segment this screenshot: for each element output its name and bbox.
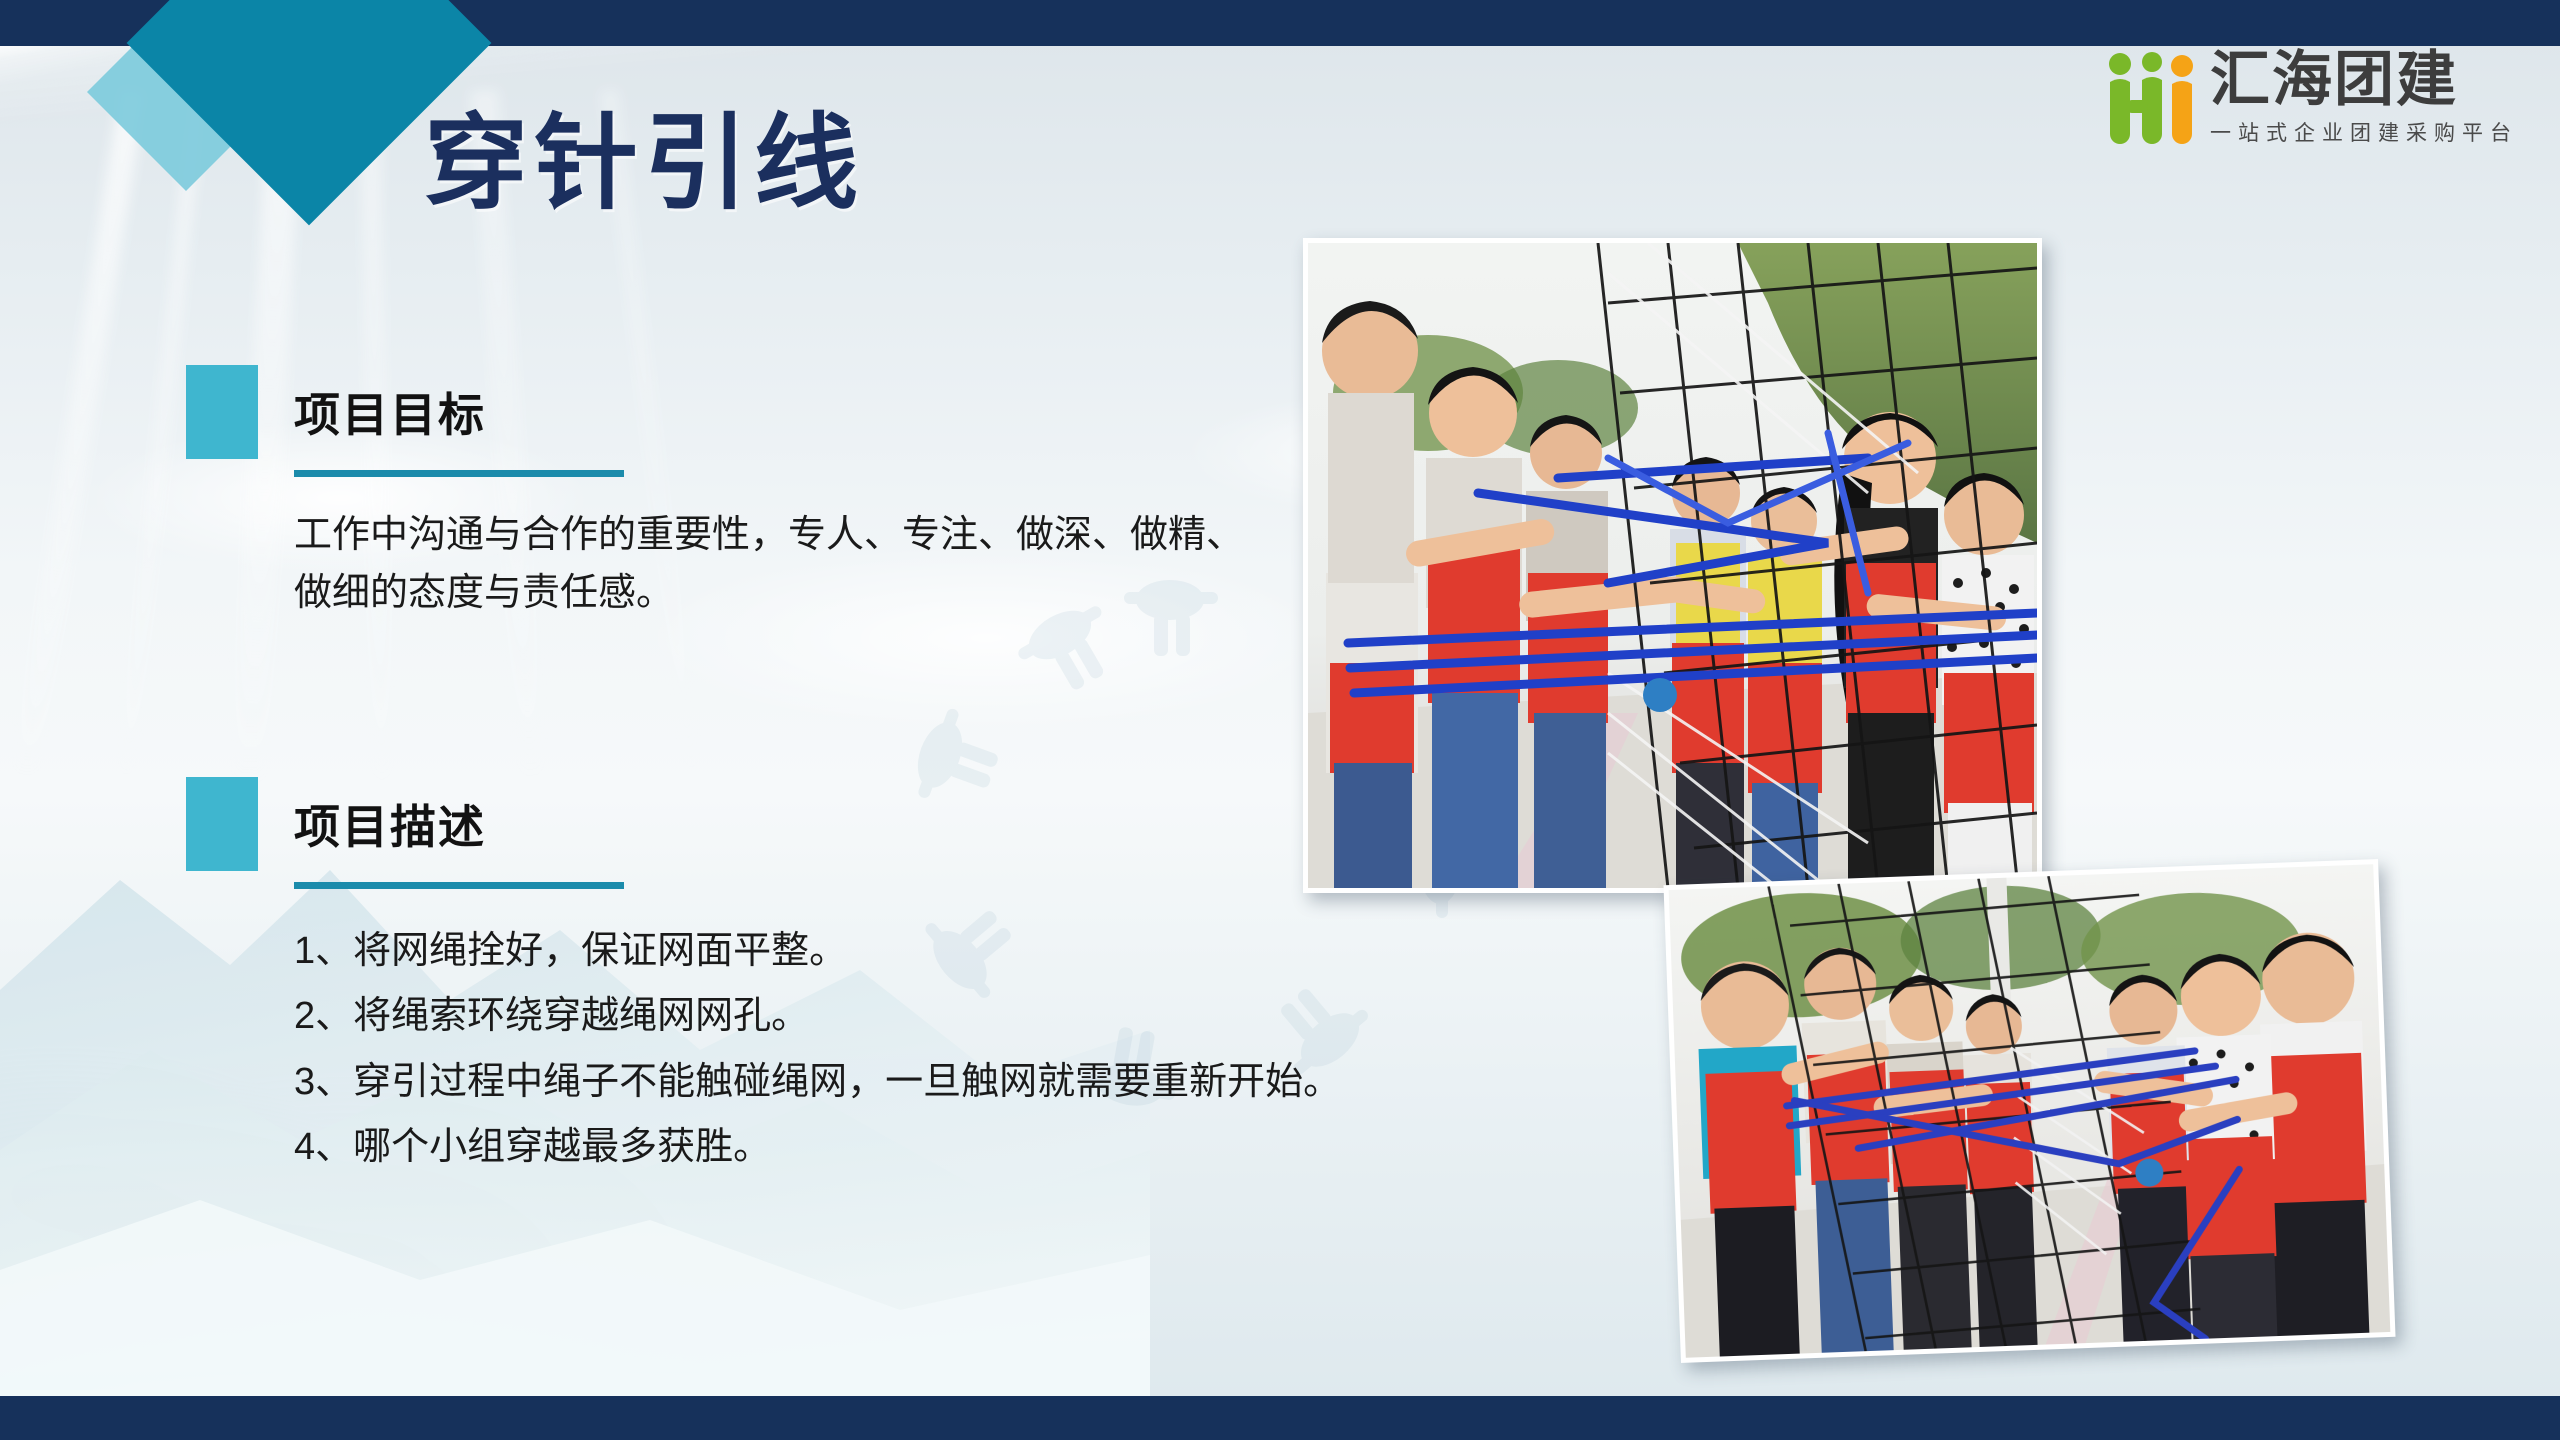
section-description-accent-square — [186, 777, 258, 871]
section-goal-header: 项目目标 — [186, 358, 1244, 466]
bottom-bar — [0, 1396, 2560, 1440]
section-description-body: 1、将网绳拴好，保证网面平整。 2、将绳索环绕穿越绳网网孔。 3、穿引过程中绳子… — [294, 919, 1341, 1180]
logo-tagline: 一站式企业团建采购平台 — [2210, 117, 2518, 147]
page-title: 穿针引线 — [424, 78, 864, 229]
section-goal-line: 工作中沟通与合作的重要性，专人、专注、做深、做精、 — [294, 507, 1244, 565]
section-goal-underline — [294, 470, 624, 477]
photo-team-rope-net-bottom — [1663, 859, 2395, 1363]
list-item: 4、哪个小组穿越最多获胜。 — [294, 1115, 1341, 1180]
section-description-underline — [294, 882, 624, 889]
section-project-goal: 项目目标 工作中沟通与合作的重要性，专人、专注、做深、做精、 做细的态度与责任感… — [186, 358, 1244, 623]
slide-root: 穿针引线 汇海团建 一站式企业团建采购平台 项目目标 工作中沟通与合作 — [0, 0, 2560, 1440]
section-description-header: 项目描述 — [186, 770, 1341, 878]
hi-logo-mark-icon — [2102, 48, 2198, 144]
list-item: 2、将绳索环绕穿越绳网网孔。 — [294, 984, 1341, 1049]
section-goal-body: 工作中沟通与合作的重要性，专人、专注、做深、做精、 做细的态度与责任感。 — [294, 507, 1244, 623]
section-goal-line: 做细的态度与责任感。 — [294, 565, 1244, 623]
list-item: 1、将网绳拴好，保证网面平整。 — [294, 919, 1341, 984]
photo-team-rope-net-top — [1303, 238, 2042, 893]
section-goal-title: 项目目标 — [294, 379, 486, 445]
brand-logo: 汇海团建 一站式企业团建采购平台 — [2102, 48, 2518, 147]
logo-text-block: 汇海团建 一站式企业团建采购平台 — [2210, 48, 2518, 147]
section-description-title: 项目描述 — [294, 791, 486, 857]
logo-company-name: 汇海团建 — [2210, 48, 2518, 111]
section-project-description: 项目描述 1、将网绳拴好，保证网面平整。 2、将绳索环绕穿越绳网网孔。 3、穿引… — [186, 770, 1341, 1180]
section-goal-accent-square — [186, 365, 258, 459]
list-item: 3、穿引过程中绳子不能触碰绳网，一旦触网就需要重新开始。 — [294, 1050, 1341, 1115]
